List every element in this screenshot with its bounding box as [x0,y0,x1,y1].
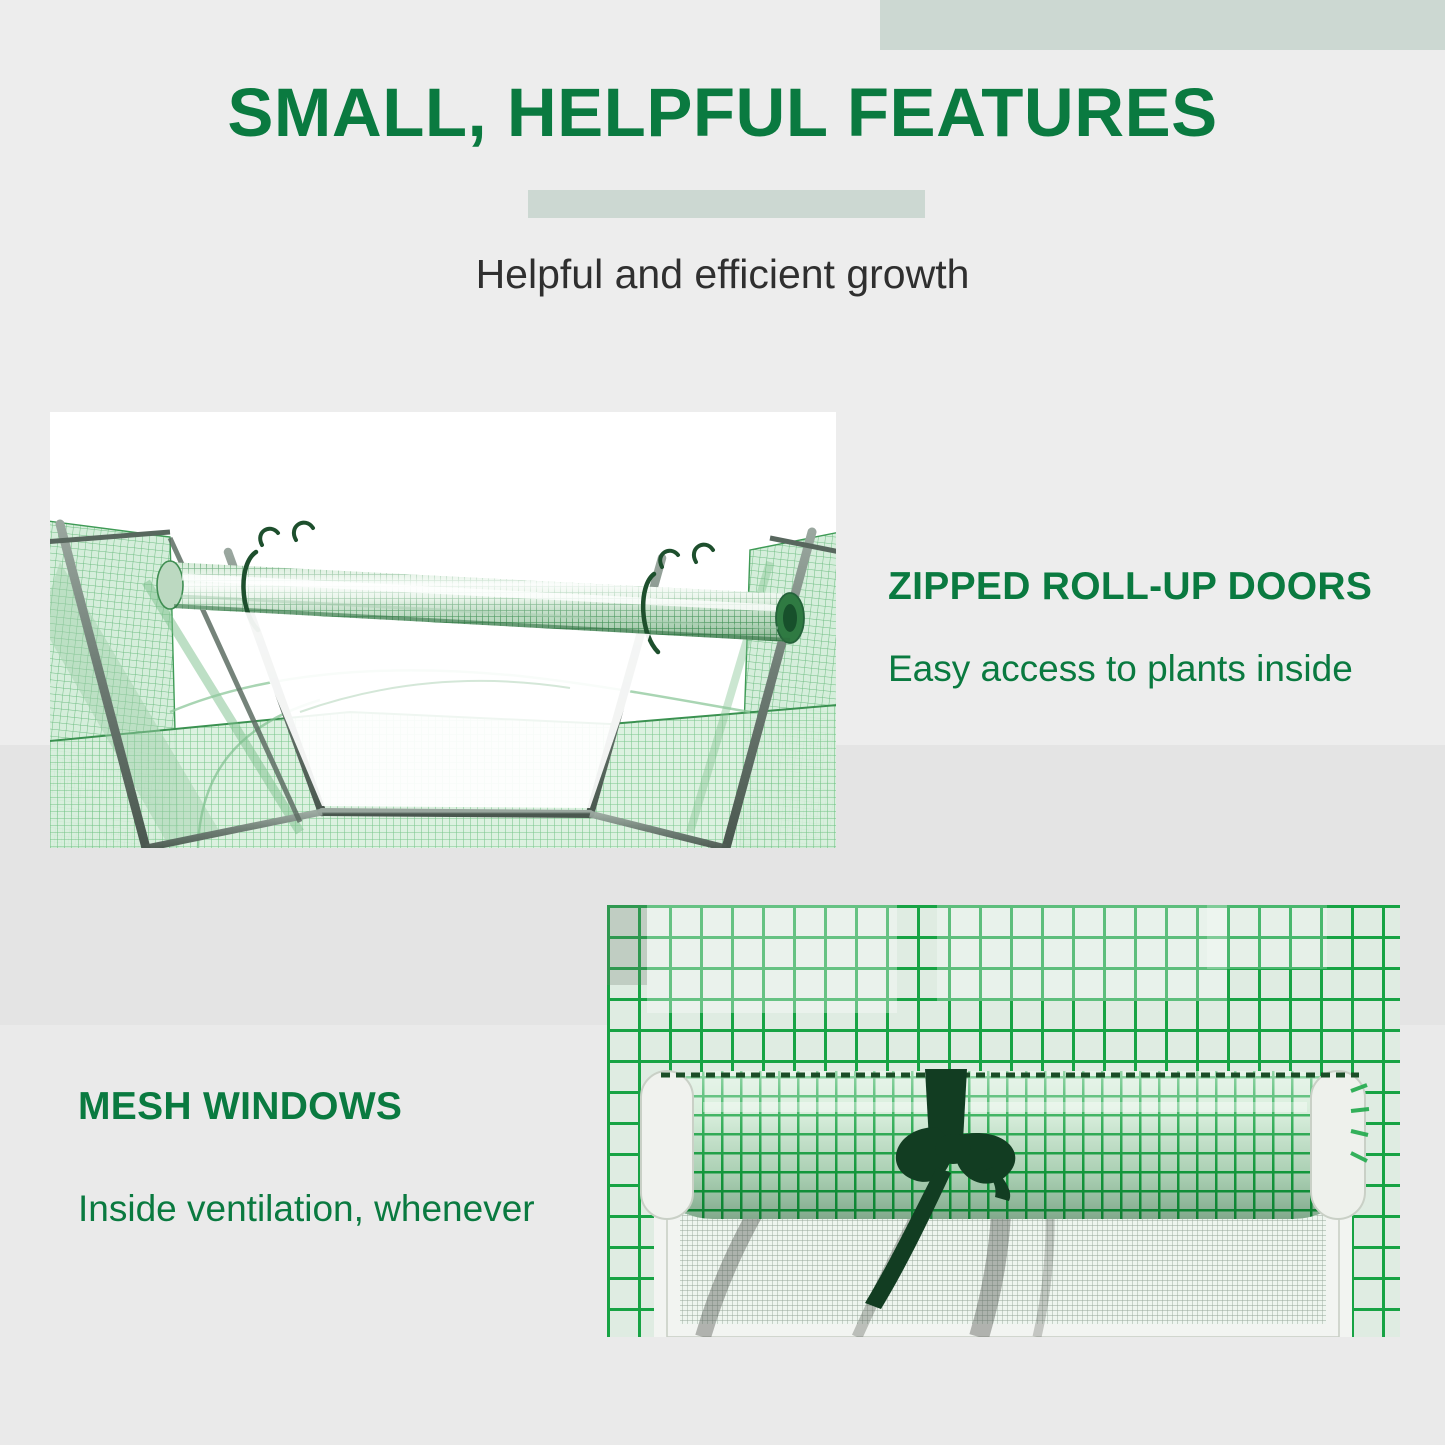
roll-end-cap-left [641,1071,693,1219]
feature-title-zipped-roll-up-doors: ZIPPED ROLL-UP DOORS [888,565,1372,609]
accent-corner-block [880,0,1445,50]
title-divider-bar [528,190,925,218]
greenhouse-door-illustration [50,412,836,848]
mesh-window-illustration [607,905,1400,1337]
feature-subtitle-zipped-roll-up-doors: Easy access to plants inside [888,648,1353,690]
feature-image-zipped-roll-up-doors [50,412,836,848]
page-subtitle: Helpful and efficient growth [0,252,1445,297]
frame-bar-inner-bottom [322,812,590,814]
page-title: SMALL, HELPFUL FEATURES [0,78,1445,147]
feature-subtitle-mesh-windows: Inside ventilation, whenever [78,1188,535,1230]
feature-image-mesh-windows [607,905,1400,1337]
roll-end-cap-right [1311,1071,1365,1219]
feature-title-mesh-windows: MESH WINDOWS [78,1085,402,1129]
infographic-canvas: SMALL, HELPFUL FEATURES Helpful and effi… [0,0,1445,1445]
